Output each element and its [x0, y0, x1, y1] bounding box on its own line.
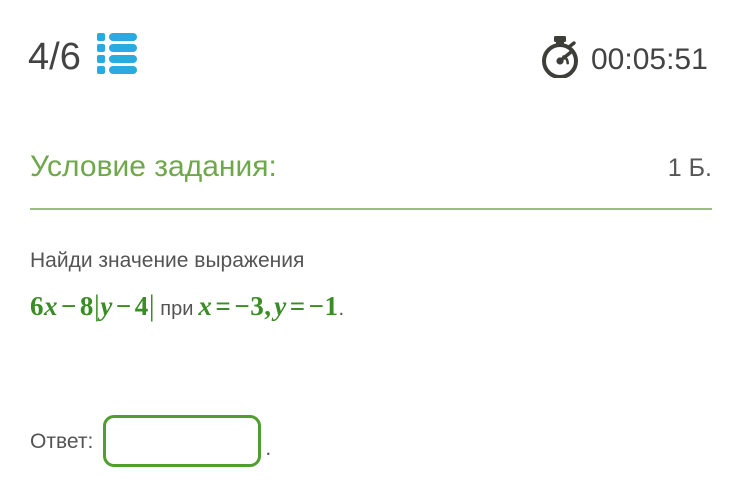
task-prompt: Найди значение выражения [30, 248, 712, 274]
progress-counter: 4/6 [28, 38, 81, 76]
points-badge: 1 Б. [668, 155, 712, 183]
expression: 6x−8|y−4| [30, 291, 155, 321]
expr-minus-1: − [58, 291, 80, 321]
cond-x-eq: = [212, 291, 234, 321]
progress-indicator: 4/6 [28, 32, 137, 81]
expr-var-y: y [100, 291, 112, 321]
timer-value: 00:05:51 [591, 45, 708, 75]
answer-row: Ответ: . [30, 415, 271, 467]
answer-input[interactable] [103, 415, 261, 467]
task-body: Найди значение выражения 6x−8|y−4|приx=−… [30, 248, 712, 327]
expr-num-4: 4 [135, 291, 149, 321]
task-expression-line: 6x−8|y−4|приx=−3, y=−1. [30, 286, 712, 327]
timer: 00:05:51 [541, 36, 708, 83]
answer-label: Ответ: [30, 431, 93, 452]
cond-y-value: −1 [309, 291, 339, 321]
conditions: x=−3, y=−1 [198, 291, 338, 321]
expr-coef-8: 8 [80, 291, 94, 321]
section-header: Условие задания: 1 Б. [30, 150, 712, 183]
cond-y-eq: = [287, 291, 309, 321]
answer-trailing-period: . [265, 437, 271, 467]
cond-x-var: x [198, 291, 212, 321]
cond-x-value: −3 [234, 291, 264, 321]
task-list-icon[interactable] [97, 32, 137, 81]
expr-var-x: x [44, 291, 58, 321]
header-divider [30, 208, 712, 210]
top-bar: 4/6 [0, 0, 738, 112]
expr-minus-2: − [113, 291, 135, 321]
section-title: Условие задания: [30, 150, 277, 183]
expr-connector: при [155, 298, 198, 320]
cond-comma: , [264, 291, 271, 321]
expr-coef-6: 6 [30, 291, 44, 321]
expression-end-period: . [338, 298, 344, 320]
cond-y-var: y [274, 291, 286, 321]
stopwatch-icon [541, 36, 579, 83]
